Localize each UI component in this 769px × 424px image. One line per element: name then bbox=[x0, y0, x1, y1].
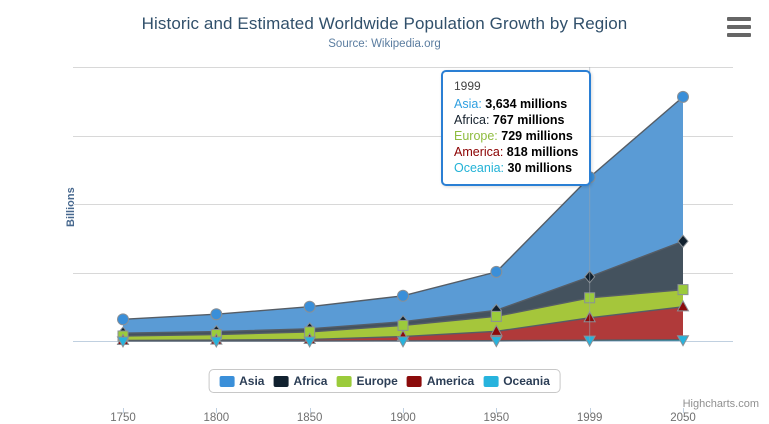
tooltip-series-value: 818 millions bbox=[507, 145, 579, 159]
tooltip-row: Europe: 729 millions bbox=[454, 128, 578, 144]
tooltip-rows: Asia: 3,634 millionsAfrica: 767 millions… bbox=[454, 96, 578, 176]
legend-item-america[interactable]: America bbox=[407, 374, 474, 388]
tooltip-series-name: Africa: bbox=[454, 113, 493, 127]
credits-label[interactable]: Highcharts.com bbox=[683, 398, 759, 410]
x-axis-tick-mark bbox=[123, 408, 124, 413]
marker-asia[interactable] bbox=[398, 290, 409, 301]
tooltip-series-value: 729 millions bbox=[501, 129, 573, 143]
tooltip-series-value: 30 millions bbox=[508, 161, 573, 175]
hamburger-menu-icon[interactable] bbox=[727, 17, 751, 37]
legend-item-oceania[interactable]: Oceania bbox=[483, 374, 550, 388]
legend[interactable]: AsiaAfricaEuropeAmericaOceania bbox=[208, 369, 561, 393]
x-axis-tick-label: 1800 bbox=[181, 412, 251, 424]
x-axis-tick-mark bbox=[310, 408, 311, 413]
marker-asia[interactable] bbox=[304, 301, 315, 312]
x-axis-tick-label: 2050 bbox=[648, 412, 718, 424]
marker-europe[interactable] bbox=[398, 320, 408, 330]
marker-europe[interactable] bbox=[491, 311, 501, 321]
tooltip-series-value: 3,634 millions bbox=[485, 97, 567, 111]
marker-asia[interactable] bbox=[678, 91, 689, 102]
legend-label: Europe bbox=[356, 374, 397, 388]
x-axis-tick-mark bbox=[403, 408, 404, 413]
marker-europe[interactable] bbox=[678, 285, 688, 295]
legend-item-asia[interactable]: Asia bbox=[219, 374, 264, 388]
marker-asia[interactable] bbox=[491, 266, 502, 277]
legend-item-africa[interactable]: Africa bbox=[273, 374, 327, 388]
highcharts-container: Historic and Estimated Worldwide Populat… bbox=[0, 0, 769, 416]
x-axis-tick-label: 1850 bbox=[275, 412, 345, 424]
legend-label: Africa bbox=[293, 374, 327, 388]
chart-title: Historic and Estimated Worldwide Populat… bbox=[0, 14, 769, 34]
legend-label: Oceania bbox=[503, 374, 550, 388]
menu-bar-3 bbox=[727, 33, 751, 37]
x-axis-tick-mark bbox=[590, 408, 591, 413]
legend-swatch-europe bbox=[336, 376, 351, 387]
tooltip-series-value: 767 millions bbox=[493, 113, 565, 127]
legend-swatch-africa bbox=[273, 376, 288, 387]
legend-label: Asia bbox=[239, 374, 264, 388]
tooltip-series-name: America: bbox=[454, 145, 507, 159]
legend-item-europe[interactable]: Europe bbox=[336, 374, 397, 388]
tooltip-row: Asia: 3,634 millions bbox=[454, 96, 578, 112]
tooltip-row: Oceania: 30 millions bbox=[454, 160, 578, 176]
legend-swatch-america bbox=[407, 376, 422, 387]
x-axis-tick-label: 1950 bbox=[461, 412, 531, 424]
tooltip-row: Africa: 767 millions bbox=[454, 112, 578, 128]
tooltip-row: America: 818 millions bbox=[454, 144, 578, 160]
marker-asia[interactable] bbox=[211, 309, 222, 320]
x-axis-tick-label: 1999 bbox=[555, 412, 625, 424]
x-axis-tick-mark bbox=[216, 408, 217, 413]
x-axis-tick-mark bbox=[496, 408, 497, 413]
series-layer bbox=[73, 67, 733, 341]
marker-asia[interactable] bbox=[118, 314, 129, 325]
menu-bar-2 bbox=[727, 25, 751, 29]
legend-items: AsiaAfricaEuropeAmericaOceania bbox=[219, 374, 550, 388]
legend-label: America bbox=[427, 374, 474, 388]
tooltip-series-name: Europe: bbox=[454, 129, 501, 143]
plot-area: Billions 02.557.510 17501800185019001950… bbox=[73, 67, 733, 341]
x-axis-tick-label: 1900 bbox=[368, 412, 438, 424]
tooltip-header: 1999 bbox=[454, 79, 578, 93]
menu-bar-1 bbox=[727, 17, 751, 21]
legend-swatch-oceania bbox=[483, 376, 498, 387]
tooltip-series-name: Oceania: bbox=[454, 161, 508, 175]
tooltip-series-name: Asia: bbox=[454, 97, 485, 111]
legend-swatch-asia bbox=[219, 376, 234, 387]
chart-subtitle: Source: Wikipedia.org bbox=[0, 38, 769, 50]
x-axis-tick-label: 1750 bbox=[88, 412, 158, 424]
tooltip: 1999 Asia: 3,634 millionsAfrica: 767 mil… bbox=[441, 70, 591, 186]
